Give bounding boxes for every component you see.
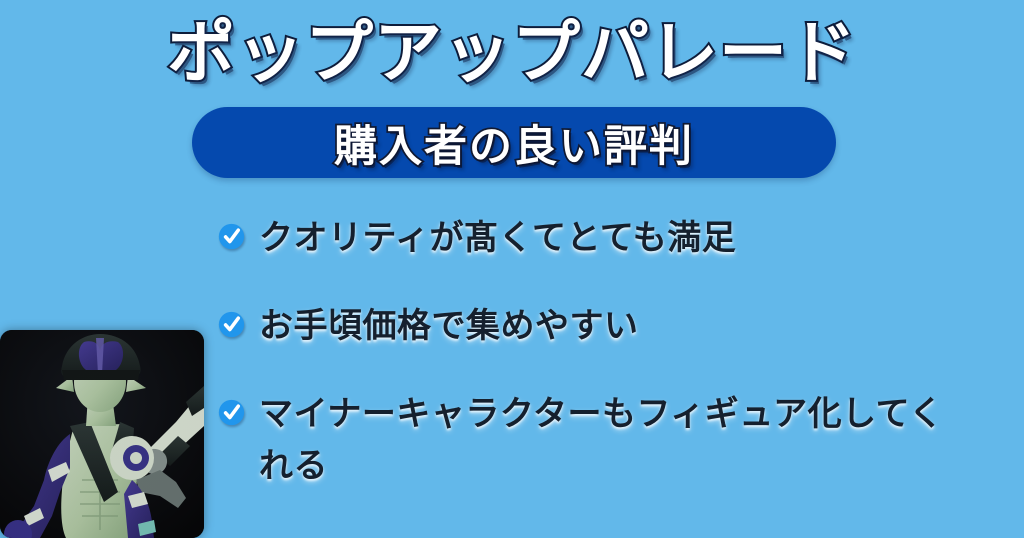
list-item: お手頃価格で集めやすい [218,300,998,352]
list-item: クオリティが髙くてとても満足 [218,212,998,264]
check-circle-icon [218,223,245,250]
check-circle-icon [218,399,245,426]
list-item-label: お手頃価格で集めやすい [259,300,959,352]
section-banner: 購入者の良い評判 [192,107,836,178]
list-item-label: マイナーキャラクターもフィギュア化してくれる [259,388,959,492]
list-item: マイナーキャラクターもフィギュア化してくれる [218,388,998,492]
check-circle-icon [218,311,245,338]
benefits-list: クオリティが髙くてとても満足 お手頃価格で集めやすい マイナーキャラクターもフィ… [218,212,998,492]
list-item-label: クオリティが髙くてとても満足 [259,212,959,264]
figure-photo [0,330,204,538]
section-banner-label: 購入者の良い評判 [192,107,836,178]
page-title: ポップアップパレード [0,12,1024,96]
figure-photo-illustration [0,330,204,538]
infographic-root: ポップアップパレード 購入者の良い評判 クオリティが髙くてとても満足 お手頃価格… [0,0,1024,538]
